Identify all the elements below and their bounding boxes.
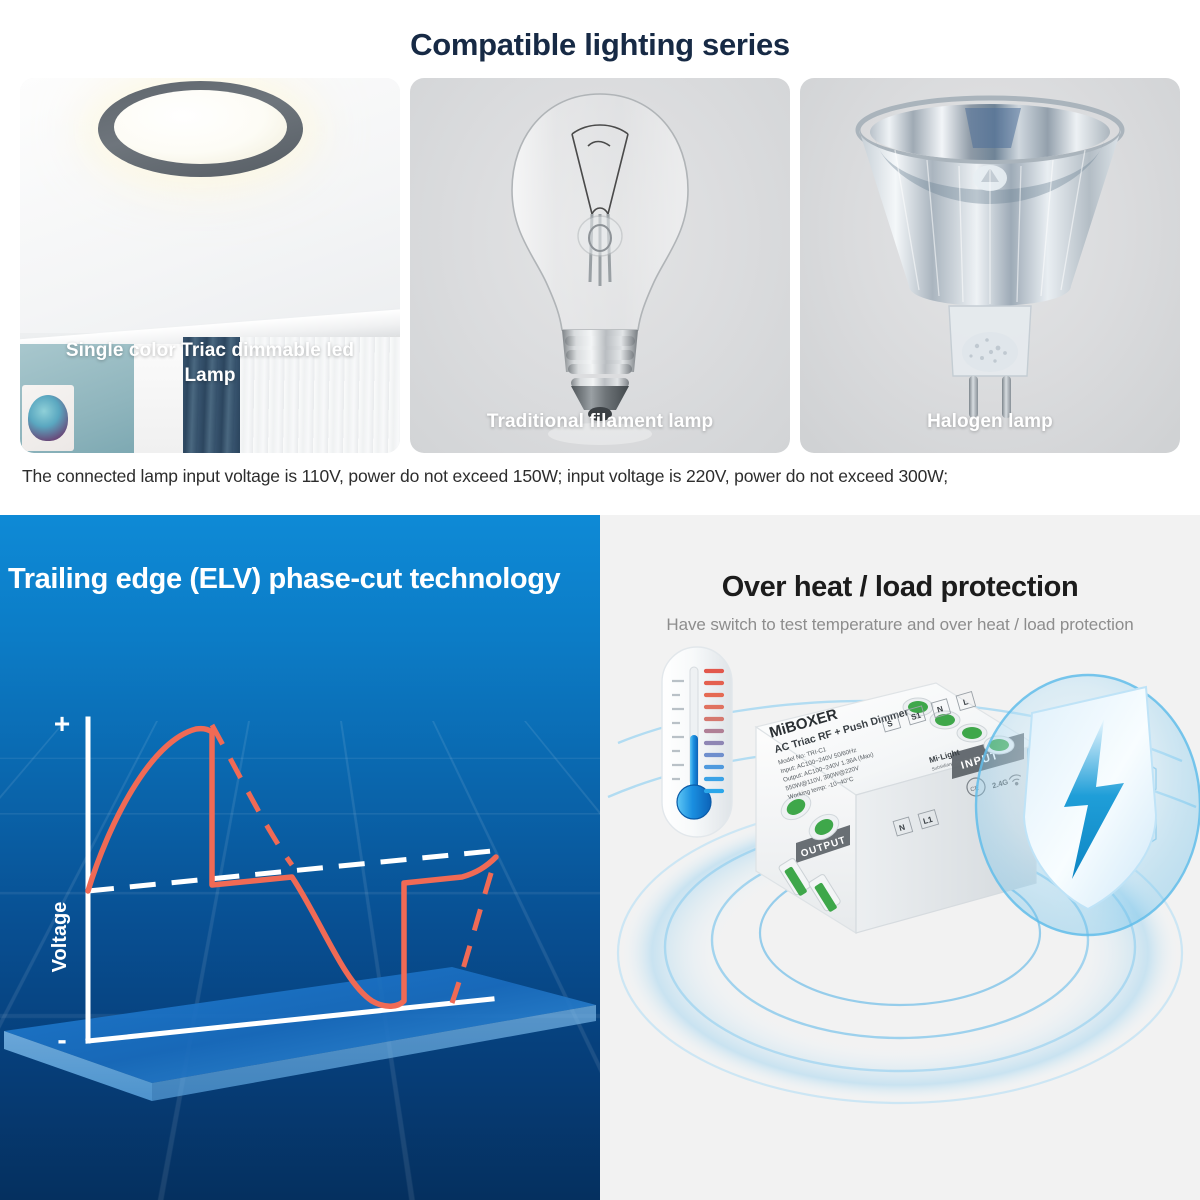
- product-feature-page: Compatible lighting series: [0, 0, 1200, 1200]
- axis-minus-label: -: [57, 1024, 66, 1055]
- trailing-edge-panel: Trailing edge (ELV) phase-cut technology: [0, 515, 600, 1200]
- lamp-card-single-color-triac[interactable]: Single color Triac dimmable led Lamp: [20, 78, 400, 453]
- page-title: Compatible lighting series: [0, 0, 1200, 62]
- device-scene-svg: INPUT OUTPUT: [600, 635, 1200, 1200]
- halogen-svg: [835, 90, 1145, 440]
- overheat-protection-panel: Over heat / load protection Have switch …: [600, 515, 1200, 1200]
- waveform-svg: + - Voltage: [0, 705, 600, 1135]
- bulb-glass: [512, 94, 688, 330]
- perspective-grid: [0, 515, 600, 721]
- bulb-svg: [470, 86, 730, 446]
- cut-away-arc-positive: [212, 725, 292, 865]
- incandescent-bulb-icon: [470, 86, 730, 451]
- terminal-l: L: [962, 697, 969, 707]
- lamp-card-caption: Traditional filament lamp: [410, 409, 790, 435]
- lamp-card-row: Single color Triac dimmable led Lamp: [20, 78, 1180, 453]
- bulb-base-bottom: [571, 386, 629, 410]
- power-note: The connected lamp input voltage is 110V…: [22, 466, 948, 487]
- y-axis-label: Voltage: [49, 902, 71, 973]
- lamp-diffuser: [114, 90, 287, 164]
- wall-art: [22, 385, 74, 451]
- halogen-lamp-icon: [835, 90, 1145, 445]
- lamp-card-caption: Single color Triac dimmable led Lamp: [20, 338, 400, 389]
- lamp-card-halogen[interactable]: Halogen lamp: [800, 78, 1180, 453]
- phase-cut-waveform-chart: + - Voltage: [0, 705, 600, 1135]
- ceiling-led-lamp-icon: [98, 81, 303, 177]
- zero-reference-line: [88, 851, 492, 891]
- platform-slab: [4, 967, 596, 1101]
- axis-plus-label: +: [54, 708, 70, 739]
- room-scene-image: [20, 78, 400, 453]
- shield-lightning-bolt-icon: [976, 675, 1200, 935]
- lamp-card-caption: Halogen lamp: [800, 409, 1180, 435]
- right-panel-title: Over heat / load protection: [600, 571, 1200, 604]
- phase-cut-waveform: [88, 729, 496, 1007]
- right-panel-subtitle: Have switch to test temperature and over…: [600, 615, 1200, 635]
- left-panel-title: Trailing edge (ELV) phase-cut technology: [8, 563, 598, 596]
- compatible-lighting-section: Compatible lighting series: [0, 0, 1200, 515]
- lamp-card-traditional-filament[interactable]: Traditional filament lamp: [410, 78, 790, 453]
- thermometer-icon: [662, 647, 732, 837]
- device-illustration: INPUT OUTPUT: [600, 635, 1200, 1200]
